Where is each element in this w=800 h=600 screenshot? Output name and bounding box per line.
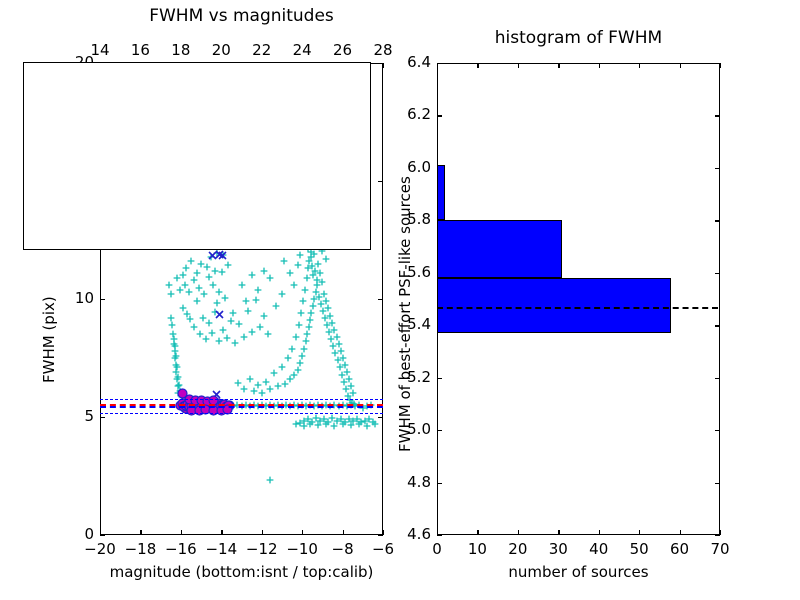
- scatter-point-plus: [280, 257, 288, 265]
- left-xtick-label-top: 16: [122, 41, 158, 59]
- scatter-point-plus: [299, 297, 307, 305]
- xtick-bottom: [383, 530, 384, 535]
- right-xtick-label: 20: [500, 540, 536, 558]
- scatter-point-plus: [203, 263, 211, 271]
- scatter-point-plus: [168, 321, 176, 329]
- scatter-point-plus: [314, 260, 322, 268]
- xtick-top: [599, 63, 600, 68]
- scatter-point-plus: [310, 250, 318, 258]
- scatter-point-plus: [248, 328, 256, 336]
- ytick-right: [378, 181, 383, 182]
- xtick-bottom: [262, 530, 263, 535]
- scatter-point-plus: [240, 333, 248, 341]
- scatter-point-plus: [172, 352, 180, 360]
- histogram-bar: [437, 278, 671, 333]
- scatter-point-plus: [218, 268, 226, 276]
- xtick-bottom: [720, 530, 721, 535]
- scatter-point-plus: [266, 476, 274, 484]
- ytick-left: [437, 535, 442, 536]
- left-ytick-label: 0: [58, 525, 94, 543]
- scatter-point-plus: [307, 309, 315, 317]
- scatter-point-plus: [165, 281, 173, 289]
- scatter-point-plus: [290, 281, 298, 289]
- ytick-right: [715, 273, 720, 274]
- scatter-point-plus: [187, 257, 195, 265]
- left-resultant-fwhm-line: [100, 406, 383, 408]
- scatter-point-plus: [229, 309, 237, 317]
- ytick-left: [100, 535, 105, 536]
- scatter-point-plus: [179, 271, 187, 279]
- scatter-point-plus: [296, 359, 304, 367]
- xtick-bottom: [181, 530, 182, 535]
- legend-box: [23, 62, 371, 250]
- scatter-point-plus: [284, 354, 292, 362]
- scatter-point-plus: [244, 307, 252, 315]
- left-xtick-label-top: 22: [244, 41, 280, 59]
- scatter-point-plus: [296, 251, 304, 259]
- scatter-point-plus: [240, 385, 248, 393]
- left-xtick-label: −16: [163, 540, 199, 558]
- scatter-point-plus: [171, 342, 179, 350]
- scatter-point-plus: [208, 329, 216, 337]
- left-xtick-label-top: 26: [325, 41, 361, 59]
- scatter-point-plus: [316, 269, 324, 277]
- right-plot-title: histogram of FWHM: [437, 28, 720, 48]
- scatter-point-plus: [288, 345, 296, 353]
- histogram-bar: [437, 220, 562, 278]
- right-xtick-label: 70: [702, 540, 738, 558]
- scatter-point-plus: [221, 294, 229, 302]
- figure-canvas: −2014−1816−1618−1420−1222−1024−826−62805…: [0, 0, 800, 600]
- right-xtick-label: 60: [662, 540, 698, 558]
- ytick-right: [378, 417, 383, 418]
- scatter-point-plus: [301, 286, 309, 294]
- scatter-point-plus: [371, 420, 379, 428]
- xtick-bottom: [343, 530, 344, 535]
- left-sigma-range-upper-line: [100, 399, 383, 400]
- scatter-point-plus: [266, 385, 274, 393]
- ytick-right: [715, 325, 720, 326]
- left-xtick-label: −18: [122, 540, 158, 558]
- ytick-right: [378, 63, 383, 64]
- scatter-point-plus: [242, 297, 250, 305]
- xtick-bottom: [477, 530, 478, 535]
- left-yaxis-label: FWHM (pix): [40, 296, 58, 383]
- left-xaxis-label: magnitude (bottom:isnt / top:calib): [65, 563, 418, 581]
- left-xtick-label: −8: [325, 540, 361, 558]
- scatter-point-plus: [295, 321, 303, 329]
- xtick-bottom: [599, 530, 600, 535]
- left-xtick-label-top: 24: [284, 41, 320, 59]
- scatter-point-plus: [294, 261, 302, 269]
- left-ytick-label: 10: [58, 289, 94, 307]
- xtick-bottom: [518, 530, 519, 535]
- scatter-point-plus: [254, 286, 262, 294]
- right-xtick-label: 30: [540, 540, 576, 558]
- left-sigma-range-lower-line: [100, 413, 383, 414]
- scatter-point-plus: [256, 323, 264, 331]
- ytick-right: [715, 115, 720, 116]
- right-ytick-label: 4.8: [389, 473, 431, 491]
- left-xtick-label: −14: [203, 540, 239, 558]
- xtick-top: [518, 63, 519, 68]
- scatter-point-plus: [264, 330, 272, 338]
- left-xtick-label-top: 18: [163, 41, 199, 59]
- ytick-right: [715, 535, 720, 536]
- scatter-point-plus: [322, 255, 330, 263]
- scatter-point-plus: [306, 316, 314, 324]
- scatter-point-plus: [278, 290, 286, 298]
- scatter-point-plus: [309, 302, 317, 310]
- xtick-top: [383, 63, 384, 68]
- scatter-point-plus: [306, 420, 314, 428]
- scatter-point-plus: [286, 269, 294, 277]
- scatter-point-plus: [347, 421, 355, 429]
- scatter-point-plus: [167, 290, 175, 298]
- xtick-bottom: [639, 530, 640, 535]
- scatter-point-plus: [235, 320, 243, 328]
- scatter-point-plus: [246, 375, 254, 383]
- scatter-point-plus: [272, 302, 280, 310]
- xtick-bottom: [140, 530, 141, 535]
- ytick-right: [715, 378, 720, 379]
- scatter-point-plus: [200, 290, 208, 298]
- ytick-left: [100, 417, 105, 418]
- xtick-bottom: [558, 530, 559, 535]
- scatter-point-plus: [231, 339, 239, 347]
- xtick-bottom: [680, 530, 681, 535]
- scatter-point-plus: [185, 288, 193, 296]
- scatter-point-plus: [193, 269, 201, 277]
- scatter-point-plus: [303, 330, 311, 338]
- right-ytick-label: 4.6: [389, 525, 431, 543]
- left-xtick-label-top: 20: [203, 41, 239, 59]
- scatter-point-plus: [260, 312, 268, 320]
- xtick-top: [477, 63, 478, 68]
- ytick-left: [437, 378, 442, 379]
- xtick-bottom: [221, 530, 222, 535]
- scatter-point-plus: [266, 274, 274, 282]
- scatter-point-plus: [298, 352, 306, 360]
- ytick-left: [100, 299, 105, 300]
- left-median-fhwm-of-sequence-line: [100, 404, 383, 406]
- xtick-top: [720, 63, 721, 68]
- scatter-point-plus: [305, 323, 313, 331]
- ytick-right: [715, 483, 720, 484]
- scatter-point-plus: [355, 420, 363, 428]
- right-xaxis-label: number of sources: [437, 563, 720, 581]
- scatter-point-plus: [363, 422, 371, 430]
- scatter-point-plus: [174, 373, 182, 381]
- right-ytick-label: 6.4: [389, 53, 431, 71]
- scatter-point-plus: [193, 297, 201, 305]
- ytick-right: [715, 430, 720, 431]
- ytick-left: [437, 63, 442, 64]
- scatter-point-plus: [252, 296, 260, 304]
- scatter-point-plus: [182, 264, 190, 272]
- scatter-point-plus: [258, 389, 266, 397]
- scatter-point-plus: [292, 333, 300, 341]
- scatter-point-plus: [270, 369, 278, 377]
- left-plot-title: FWHM vs magnitudes: [100, 6, 383, 26]
- scatter-point-plus: [213, 299, 221, 307]
- right-yaxis-label: FWHM of best-effort PSF-like sources: [396, 176, 414, 452]
- ytick-right: [378, 299, 383, 300]
- left-xtick-label: −12: [244, 540, 280, 558]
- scatter-point-plus: [219, 326, 227, 334]
- scatter-point-plus: [254, 381, 262, 389]
- right-ytick-label: 6.0: [389, 158, 431, 176]
- scatter-point-plus: [224, 261, 232, 269]
- right-xtick-label: 40: [581, 540, 617, 558]
- ytick-left: [437, 430, 442, 431]
- scatter-point-plus: [186, 315, 194, 323]
- ytick-left: [437, 115, 442, 116]
- xtick-bottom: [302, 530, 303, 535]
- scatter-point-plus: [322, 420, 330, 428]
- left-xtick-label: −10: [284, 540, 320, 558]
- right-xtick-label: 10: [459, 540, 495, 558]
- scatter-point-x: [218, 251, 227, 260]
- scatter-point-plus: [205, 319, 213, 327]
- right-resultant-fwhm-line: [437, 307, 718, 309]
- scatter-point-plus: [248, 271, 256, 279]
- scatter-point-plus: [349, 389, 357, 397]
- histogram-bar: [437, 165, 445, 220]
- scatter-point-plus: [330, 422, 338, 430]
- left-ytick-label: 5: [58, 407, 94, 425]
- ytick-right: [715, 168, 720, 169]
- right-ytick-label: 6.2: [389, 105, 431, 123]
- xtick-top: [639, 63, 640, 68]
- scatter-point-plus: [227, 317, 235, 325]
- scatter-point-plus: [318, 278, 326, 286]
- scatter-point-plus: [223, 334, 231, 342]
- scatter-point-plus: [339, 420, 347, 428]
- scatter-point-plus: [300, 345, 308, 353]
- scatter-point-plus: [173, 363, 181, 371]
- scatter-point-plus: [302, 337, 310, 345]
- ytick-right: [715, 220, 720, 221]
- scatter-point-plus: [260, 267, 268, 275]
- right-xtick-label: 50: [621, 540, 657, 558]
- ytick-right: [378, 535, 383, 536]
- scatter-point-x: [215, 310, 224, 319]
- scatter-point-plus: [215, 337, 223, 345]
- scatter-point-plus: [297, 309, 305, 317]
- ytick-right: [715, 63, 720, 64]
- scatter-point-plus: [238, 281, 246, 289]
- xtick-top: [558, 63, 559, 68]
- xtick-top: [680, 63, 681, 68]
- ytick-left: [437, 483, 442, 484]
- scatter-point-plus: [190, 276, 198, 284]
- scatter-point-plus: [278, 363, 286, 371]
- scatter-point-plus: [294, 366, 302, 374]
- scatter-point-plus: [314, 421, 322, 429]
